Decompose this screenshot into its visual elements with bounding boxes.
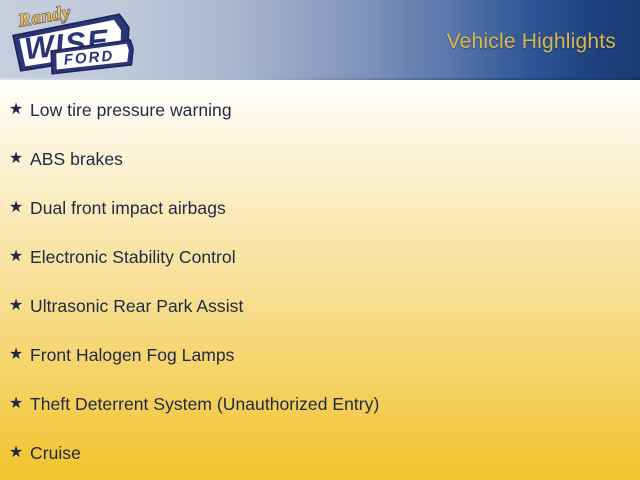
- star-bullet-icon: ★: [8, 101, 24, 119]
- header-bar: WISE Randy FORD Vehicle Highlights: [0, 0, 640, 80]
- list-item: ★Cruise: [8, 441, 81, 465]
- list-item: ★Theft Deterrent System (Unauthorized En…: [8, 392, 379, 416]
- list-item-label: Dual front impact airbags: [30, 197, 226, 219]
- list-item: ★ABS brakes: [8, 147, 123, 171]
- list-item: ★Front Halogen Fog Lamps: [8, 343, 234, 367]
- star-bullet-icon: ★: [8, 248, 24, 266]
- star-bullet-icon: ★: [8, 297, 24, 315]
- list-item: ★Dual front impact airbags: [8, 196, 226, 220]
- list-item-label: Electronic Stability Control: [30, 246, 236, 268]
- list-item: ★Ultrasonic Rear Park Assist: [8, 294, 243, 318]
- star-bullet-icon: ★: [8, 395, 24, 413]
- page-title: Vehicle Highlights: [447, 29, 616, 55]
- list-item: ★Low tire pressure warning: [8, 98, 232, 122]
- vehicle-highlights-slide: WISE Randy FORD Vehicle Highlights ★Low …: [0, 0, 640, 480]
- highlights-panel: ★Low tire pressure warning★ABS brakes★Du…: [0, 80, 640, 480]
- randy-wise-ford-logo: WISE Randy FORD: [4, 0, 144, 80]
- list-item-label: Cruise: [30, 442, 81, 464]
- list-item-label: ABS brakes: [30, 148, 123, 170]
- star-bullet-icon: ★: [8, 444, 24, 462]
- list-item-label: Theft Deterrent System (Unauthorized Ent…: [30, 393, 379, 415]
- list-item: ★Electronic Stability Control: [8, 245, 236, 269]
- star-bullet-icon: ★: [8, 150, 24, 168]
- list-item-label: Front Halogen Fog Lamps: [30, 344, 234, 366]
- list-item-label: Ultrasonic Rear Park Assist: [30, 295, 243, 317]
- star-bullet-icon: ★: [8, 346, 24, 364]
- list-item-label: Low tire pressure warning: [30, 99, 232, 121]
- star-bullet-icon: ★: [8, 199, 24, 217]
